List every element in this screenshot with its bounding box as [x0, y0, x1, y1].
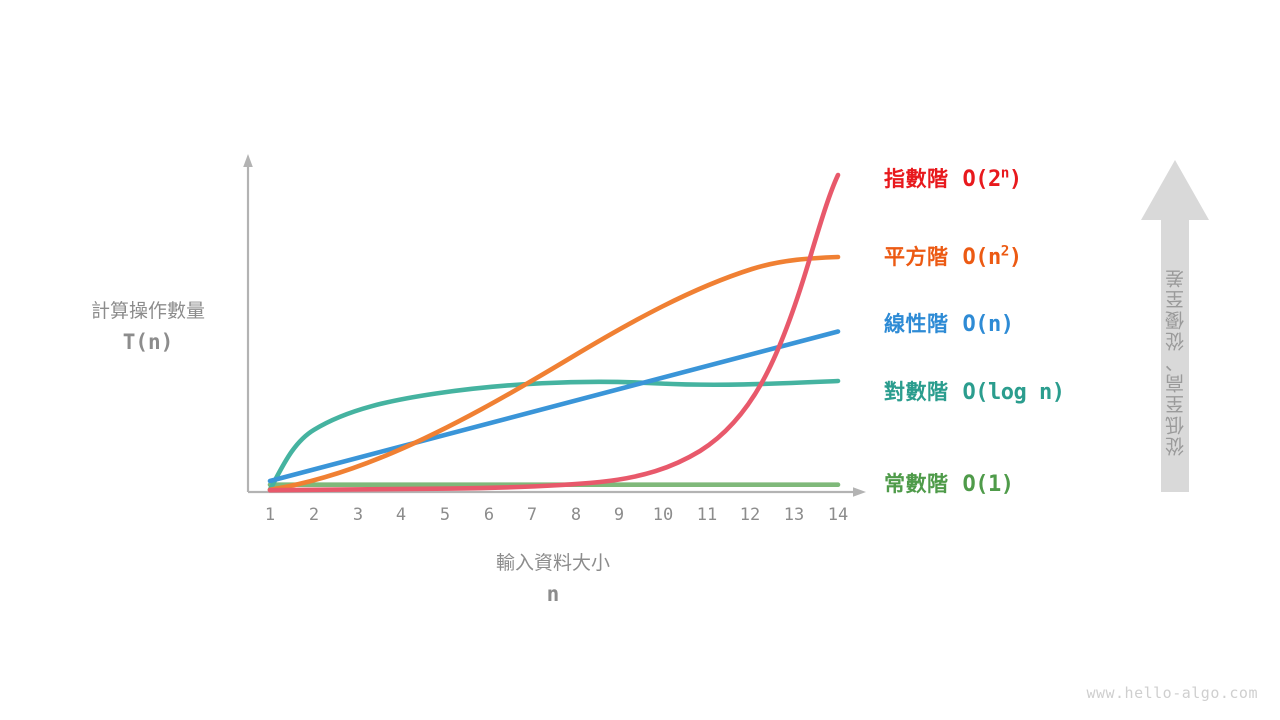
x-tick-label-5: 5: [425, 505, 465, 525]
x-tick-label-4: 4: [381, 505, 421, 525]
series-line-exponential: [270, 175, 838, 490]
legend-notation-tail: ): [1009, 167, 1022, 192]
x-tick-label-2: 2: [294, 505, 334, 525]
legend-notation-base: O(2: [963, 167, 1001, 192]
x-tick-label-7: 7: [512, 505, 552, 525]
x-tick-label-9: 9: [599, 505, 639, 525]
x-tick-label-1: 1: [250, 505, 290, 525]
x-tick-label-14: 14: [818, 505, 858, 525]
legend-item-quadratic: 平方階 O(n2): [884, 241, 1022, 271]
x-axis-title: 輸入資料大小 n: [453, 548, 653, 610]
legend-label-quadratic: 平方階: [884, 241, 949, 271]
x-tick-label-6: 6: [469, 505, 509, 525]
legend-notation-exponential: O(2n): [963, 167, 1022, 192]
x-tick-label-11: 11: [687, 505, 727, 525]
chart-canvas: 1 2 3 4 5 6 7 8 9 10 11 12 13 14 計算操作數量 …: [0, 0, 1280, 720]
y-axis-title-symbol: T(n): [48, 326, 248, 358]
x-tick-label-13: 13: [774, 505, 814, 525]
legend-notation-linear: O(n): [963, 312, 1014, 337]
legend-label-logarithmic: 對數階: [884, 376, 949, 406]
legend-label-exponential: 指數階: [884, 163, 949, 193]
legend-notation-base: O(n: [963, 245, 1001, 270]
legend-notation-tail: ): [1009, 245, 1022, 270]
legend-notation-quadratic: O(n2): [963, 245, 1022, 270]
series-line-quadratic: [270, 257, 838, 490]
legend-notation-constant: O(1): [963, 472, 1014, 497]
y-axis-title-text: 計算操作數量: [48, 296, 248, 326]
legend-label-constant: 常數階: [884, 468, 949, 498]
legend-notation-sup: n: [1001, 166, 1009, 182]
legend-item-logarithmic: 對數階 O(log n): [884, 376, 1064, 406]
x-axis-title-symbol: n: [453, 578, 653, 610]
x-tick-label-12: 12: [730, 505, 770, 525]
legend-item-linear: 線性階 O(n): [884, 308, 1013, 338]
x-tick-label-10: 10: [643, 505, 683, 525]
series-line-linear: [270, 332, 838, 482]
x-tick-label-3: 3: [338, 505, 378, 525]
legend-notation-sup: 2: [1001, 244, 1009, 260]
y-axis-title: 計算操作數量 T(n): [48, 296, 248, 358]
x-tick-label-8: 8: [556, 505, 596, 525]
complexity-plot: [0, 0, 1280, 720]
legend-item-exponential: 指數階 O(2n): [884, 163, 1022, 193]
x-axis-title-text: 輸入資料大小: [453, 548, 653, 578]
watermark: www.hello-algo.com: [1086, 684, 1258, 702]
legend-label-linear: 線性階: [884, 308, 949, 338]
legend-notation-logarithmic: O(log n): [963, 380, 1065, 405]
legend-item-constant: 常數階 O(1): [884, 468, 1013, 498]
rank-arrow-icon: [1140, 158, 1210, 492]
